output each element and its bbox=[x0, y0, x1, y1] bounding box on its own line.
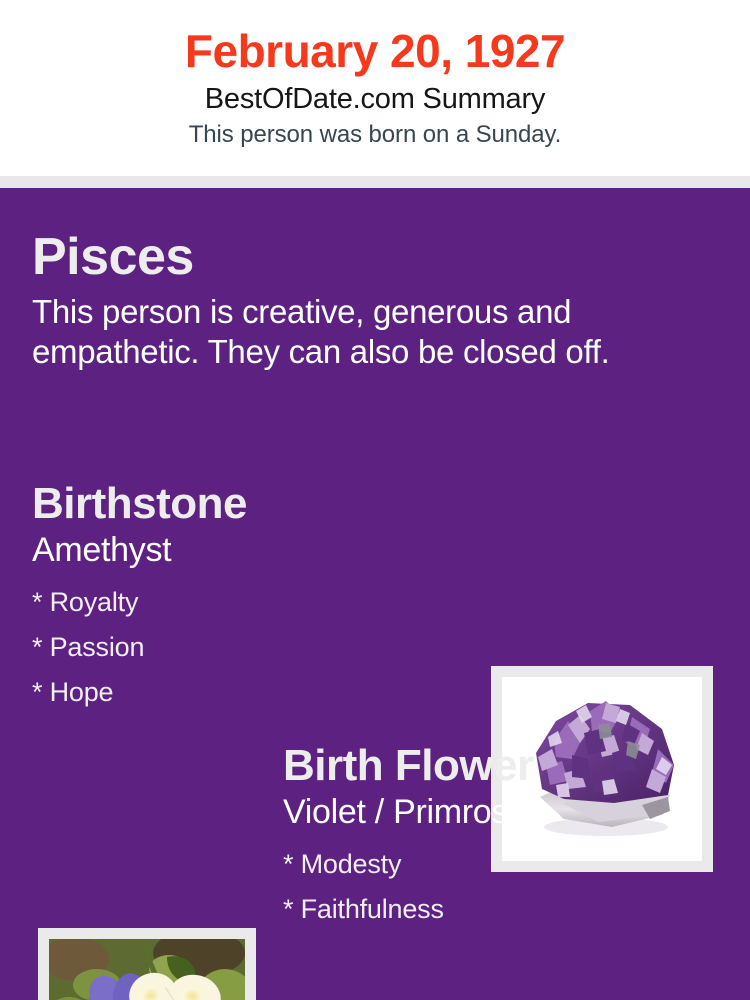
flower-illustration bbox=[49, 939, 245, 1000]
header: February 20, 1927 BestOfDate.com Summary… bbox=[0, 0, 750, 176]
header-divider bbox=[0, 176, 750, 188]
birth-flower-name: Violet / Primrose bbox=[283, 792, 733, 832]
site-summary-label: BestOfDate.com Summary bbox=[0, 80, 750, 118]
list-item: * Faithfulness bbox=[283, 887, 733, 932]
list-item: * Modesty bbox=[283, 842, 733, 887]
list-item: * Hope bbox=[32, 670, 472, 715]
zodiac-section: Pisces This person is creative, generous… bbox=[32, 228, 718, 372]
list-item: * Passion bbox=[32, 625, 472, 670]
birth-flower-section: Birth Flower Violet / Primrose * Modesty… bbox=[283, 740, 733, 932]
details-panel: Pisces This person is creative, generous… bbox=[0, 188, 750, 1000]
page-title: February 20, 1927 bbox=[0, 22, 750, 80]
birthstone-heading: Birthstone bbox=[32, 478, 472, 530]
violet-and-primrose-flowers-photo bbox=[49, 939, 245, 1000]
birth-flower-trait-list: * Modesty * Faithfulness bbox=[283, 842, 733, 932]
birth-flower-image-frame bbox=[38, 928, 256, 1000]
birthstone-section: Birthstone Amethyst * Royalty * Passion … bbox=[32, 478, 472, 715]
born-day-note: This person was born on a Sunday. bbox=[0, 118, 750, 152]
birthstone-trait-list: * Royalty * Passion * Hope bbox=[32, 580, 472, 715]
birth-flower-heading: Birth Flower bbox=[283, 740, 733, 792]
zodiac-sign-name: Pisces bbox=[32, 228, 718, 286]
summary-card: February 20, 1927 BestOfDate.com Summary… bbox=[0, 0, 750, 1000]
birthstone-name: Amethyst bbox=[32, 530, 472, 570]
zodiac-description: This person is creative, generous and em… bbox=[32, 292, 702, 372]
list-item: * Royalty bbox=[32, 580, 472, 625]
